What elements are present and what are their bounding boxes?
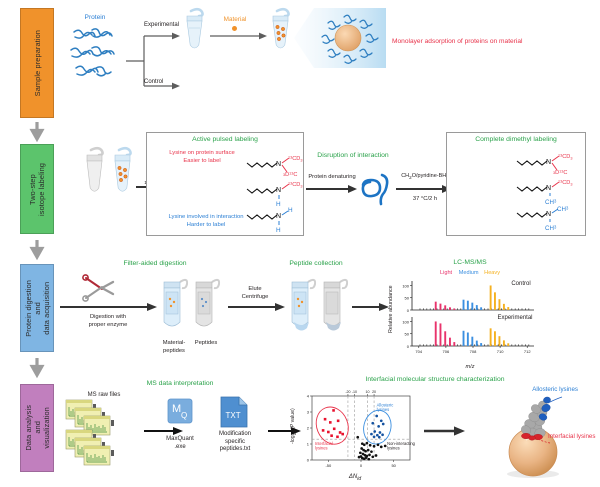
lysine-surface-note: Lysine on protein surface Easier to labe…	[150, 150, 254, 165]
collection-tube-blue-icon	[288, 276, 316, 338]
tube-experimental-icon	[182, 8, 208, 58]
tube-control-row2-icon	[82, 146, 108, 202]
denaturing-arrow	[306, 184, 358, 194]
volcano-point-interfacial	[336, 436, 339, 439]
volcano-point-allosteric	[378, 436, 381, 439]
protein-label: Protein	[72, 14, 118, 22]
figure-canvas: Sample preparation Two-step isotope labe…	[0, 0, 600, 487]
flow-arrow-2	[31, 240, 43, 258]
ms-xtick-label: 712	[524, 349, 531, 354]
volcano-point-noninteracting	[365, 456, 368, 459]
svg-text:N: N	[276, 161, 281, 168]
txt-file-label: Modification specific peptides.txt	[206, 431, 264, 454]
ms-xtick-label: 710	[497, 349, 504, 354]
svg-text:TXT: TXT	[226, 411, 241, 420]
monolayer-adsorption-caption: Monolayer adsorption of proteins on mate…	[392, 38, 582, 46]
volcano-xtick-label: 0	[360, 463, 363, 468]
volcano-point-noninteracting	[373, 445, 376, 448]
model-label-interfacial-lysines: Interfacial lysines	[548, 433, 600, 441]
ms-ytick-label: 50	[405, 332, 410, 337]
volcano-point-noninteracting	[377, 443, 380, 446]
volcano-point-noninteracting	[367, 449, 370, 452]
volcano-point-allosteric	[375, 415, 378, 418]
svg-text:13CD3: 13CD3	[558, 153, 572, 160]
ms-ytick-label: 0	[407, 308, 410, 313]
stage-two-step-isotope-labeling: Two-step isotope labeling	[20, 144, 54, 234]
ms-xlabel-text: m/z	[465, 364, 474, 370]
svg-text:3D13C: 3D13C	[283, 171, 297, 178]
volcano-point-interfacial	[333, 428, 336, 431]
ms-ytick-label: 0	[407, 344, 410, 349]
svg-text:Q: Q	[181, 411, 187, 420]
volcano-top-tick-label: -20	[345, 390, 350, 394]
volcano-point-allosteric	[370, 433, 373, 436]
volcano-point-interfacial	[341, 433, 344, 436]
material-dot-icon	[232, 26, 237, 31]
filter-tube-peptides-icon	[192, 276, 220, 338]
svg-text:N: N	[546, 159, 551, 166]
volcano-ytick-label: 0	[307, 458, 310, 463]
volcano-top-tick-label: -10	[352, 390, 357, 394]
volcano-point-noninteracting	[356, 436, 359, 439]
ms-data-interpretation-title: MS data interpretation	[110, 380, 250, 388]
ms-xtick-label: 708	[470, 349, 477, 354]
svg-text:CH3: CH3	[545, 225, 557, 232]
ms-ytick-label: 100	[402, 283, 409, 288]
volcano-point-noninteracting	[369, 444, 372, 447]
volcano-point-interfacial	[332, 409, 335, 412]
volcano-point-allosteric	[371, 422, 374, 425]
txt-file-icon: TXT	[220, 396, 248, 428]
volcano-point-interfacial	[322, 429, 325, 432]
ms-legend-heavy: Heavy	[484, 270, 500, 276]
volcano-point-allosteric	[376, 434, 379, 437]
scissors-icon	[82, 275, 116, 301]
volcano-point-noninteracting	[371, 455, 374, 458]
elute-centrifuge-label: Elute Centrifuge	[226, 286, 284, 301]
svg-text:CH3: CH3	[557, 206, 569, 213]
volcano-top-tick-label: 10	[366, 390, 370, 394]
ms-xtick-label: 704	[415, 349, 422, 354]
volcano-point-noninteracting	[363, 443, 366, 446]
structure-right-dimethyl-d6: N 13CD3 3D13C	[516, 150, 576, 178]
volcano-ytick-label: 3	[307, 410, 310, 415]
volcano-xlabel: ΔNid	[300, 474, 410, 484]
svg-text:N: N	[276, 213, 281, 220]
svg-text:N: N	[546, 211, 551, 218]
volcano-point-allosteric	[373, 430, 376, 433]
volcano-point-noninteracting	[375, 454, 378, 457]
structure-right-mixed-methyl: N 13CD3 CH3	[516, 178, 576, 206]
volcano-top-tick-label: 20	[372, 390, 376, 394]
ms-xtick-label: 706	[443, 349, 450, 354]
filter-tube-material-peptides-icon	[160, 276, 188, 338]
volcano-point-allosteric	[382, 423, 385, 426]
volcano-point-interfacial	[329, 421, 332, 424]
volcano-point-noninteracting	[380, 446, 383, 449]
volcano-point-allosteric	[381, 433, 384, 436]
structure-right-dimethyl-light: N CH3 CH3	[516, 204, 576, 232]
active-pulsed-labeling-title: Active pulsed labeling	[146, 136, 304, 144]
volcano-point-noninteracting	[384, 445, 387, 448]
volcano-point-interfacial	[339, 431, 342, 434]
protein-denaturing-label: Protein denaturing	[302, 174, 362, 182]
svg-text:H: H	[276, 227, 281, 234]
volcano-xtick-label: 50	[391, 463, 396, 468]
volcano-annotation: lysines	[387, 445, 400, 450]
volcano-point-noninteracting	[367, 458, 370, 461]
volcano-annotation: lysines	[315, 445, 328, 450]
flow-arrow-3	[31, 358, 43, 376]
volcano-point-allosteric	[373, 435, 376, 438]
digestion-arrow	[60, 302, 158, 312]
svg-text:13CD3: 13CD3	[558, 179, 572, 186]
volcano-xtick-label: -50	[325, 463, 332, 468]
ms-legend: Light Medium Heavy	[400, 270, 540, 276]
elute-arrow	[228, 302, 286, 312]
protein-cluster-icon	[66, 24, 124, 90]
volcano-plot-chart: -20-101020-5005001234InterfaciallysinesA…	[296, 386, 416, 474]
ms-raw-files-icon	[66, 400, 140, 466]
maxquant-arrow	[144, 426, 184, 436]
maxquant-icon: M Q	[167, 398, 193, 424]
material-label: Material	[212, 16, 258, 24]
maxquant-label: MaxQuant .exe	[152, 436, 208, 451]
volcano-point-noninteracting	[359, 451, 362, 454]
volcano-annotation: lysines	[377, 407, 390, 412]
svg-text:N: N	[276, 187, 281, 194]
tube-label-peptides: Peptides	[186, 340, 226, 348]
peptide-collection-title: Peptide collection	[264, 260, 368, 268]
volcano-ytick-label: 1	[307, 442, 310, 447]
ms-arrow	[352, 302, 390, 312]
adsorption-illustration	[292, 5, 388, 71]
collection-tube-grey-icon	[320, 276, 348, 338]
volcano-point-allosteric	[377, 425, 380, 428]
stage-label-data-analysis-visualization: Data analysis and visualization	[24, 405, 51, 451]
structure-left-unmodified: N H H	[246, 206, 304, 234]
stage-label-two-step-isotope-labeling: Two-step isotope labeling	[28, 163, 46, 216]
ms-spectrum-chart: 050100050100704706708710712	[396, 278, 536, 358]
denatured-protein-icon	[360, 170, 396, 210]
volcano-point-interfacial	[324, 418, 327, 421]
volcano-point-interfacial	[327, 431, 330, 434]
filter-aided-digestion-title: Filter-aided digestion	[100, 260, 210, 268]
stage-sample-preparation: Sample preparation	[20, 8, 54, 118]
svg-text:13CD3: 13CD3	[288, 181, 302, 188]
stage-protein-digestion-data-acquisition: Protein digestion and data acquisition	[20, 264, 54, 352]
model-label-allosteric-lysines: Allosteric lysines	[468, 386, 578, 394]
stage-label-protein-digestion-data-acquisition: Protein digestion and data acquisition	[24, 280, 51, 337]
branch-label-control: Control	[144, 79, 163, 87]
complete-dimethyl-labeling-title: Complete dimethyl labeling	[446, 136, 586, 144]
stage-data-analysis-visualization: Data analysis and visualization	[20, 384, 54, 472]
structure-left-monomethyl: N 13CD3 H	[246, 180, 304, 208]
disruption-of-interaction-title: Disruption of interaction	[306, 152, 400, 160]
material-arrow	[210, 32, 268, 40]
digestion-arrow-label: Digestion with proper enzyme	[62, 314, 154, 329]
volcano-ytick-label: 4	[307, 394, 310, 399]
stage-label-sample-preparation: Sample preparation	[33, 30, 42, 96]
volcano-point-allosteric	[379, 431, 382, 434]
ms-raw-files-label: MS raw files	[72, 392, 136, 400]
volcano-point-noninteracting	[370, 450, 373, 453]
volcano-to-model-arrow	[424, 425, 466, 437]
svg-text:3D13C: 3D13C	[553, 169, 567, 176]
volcano-point-noninteracting	[366, 442, 369, 445]
ms-legend-light: Light	[440, 270, 452, 276]
structure-left-dimethyl-d6: N 13CD3 3D13C	[246, 152, 304, 178]
volcano-point-noninteracting	[358, 456, 361, 459]
volcano-point-interfacial	[337, 420, 340, 423]
ms-xlabel: m/z	[410, 356, 530, 371]
volcano-point-interfacial	[330, 434, 333, 437]
branch-label-experimental: Experimental	[144, 22, 179, 30]
tube-with-material-icon	[268, 8, 294, 58]
svg-text:H: H	[288, 207, 293, 214]
flow-arrow-1	[31, 122, 43, 140]
svg-text:N: N	[546, 185, 551, 192]
reaction-arrow-dimethyl	[396, 184, 452, 194]
svg-text:13CD3: 13CD3	[288, 155, 302, 162]
svg-text:M: M	[172, 403, 181, 415]
ms-ytick-label: 100	[402, 319, 409, 324]
characterization-title: Interfacial molecular structure characte…	[320, 376, 550, 384]
volcano-ytick-label: 2	[307, 426, 310, 431]
volcano-point-noninteracting	[368, 454, 371, 457]
ms-ytick-label: 50	[405, 296, 410, 301]
ms-legend-medium: Medium	[459, 270, 479, 276]
volcano-point-allosteric	[380, 419, 383, 422]
lcmsms-title: LC-MS/MS	[400, 259, 540, 267]
volcano-point-noninteracting	[364, 450, 367, 453]
